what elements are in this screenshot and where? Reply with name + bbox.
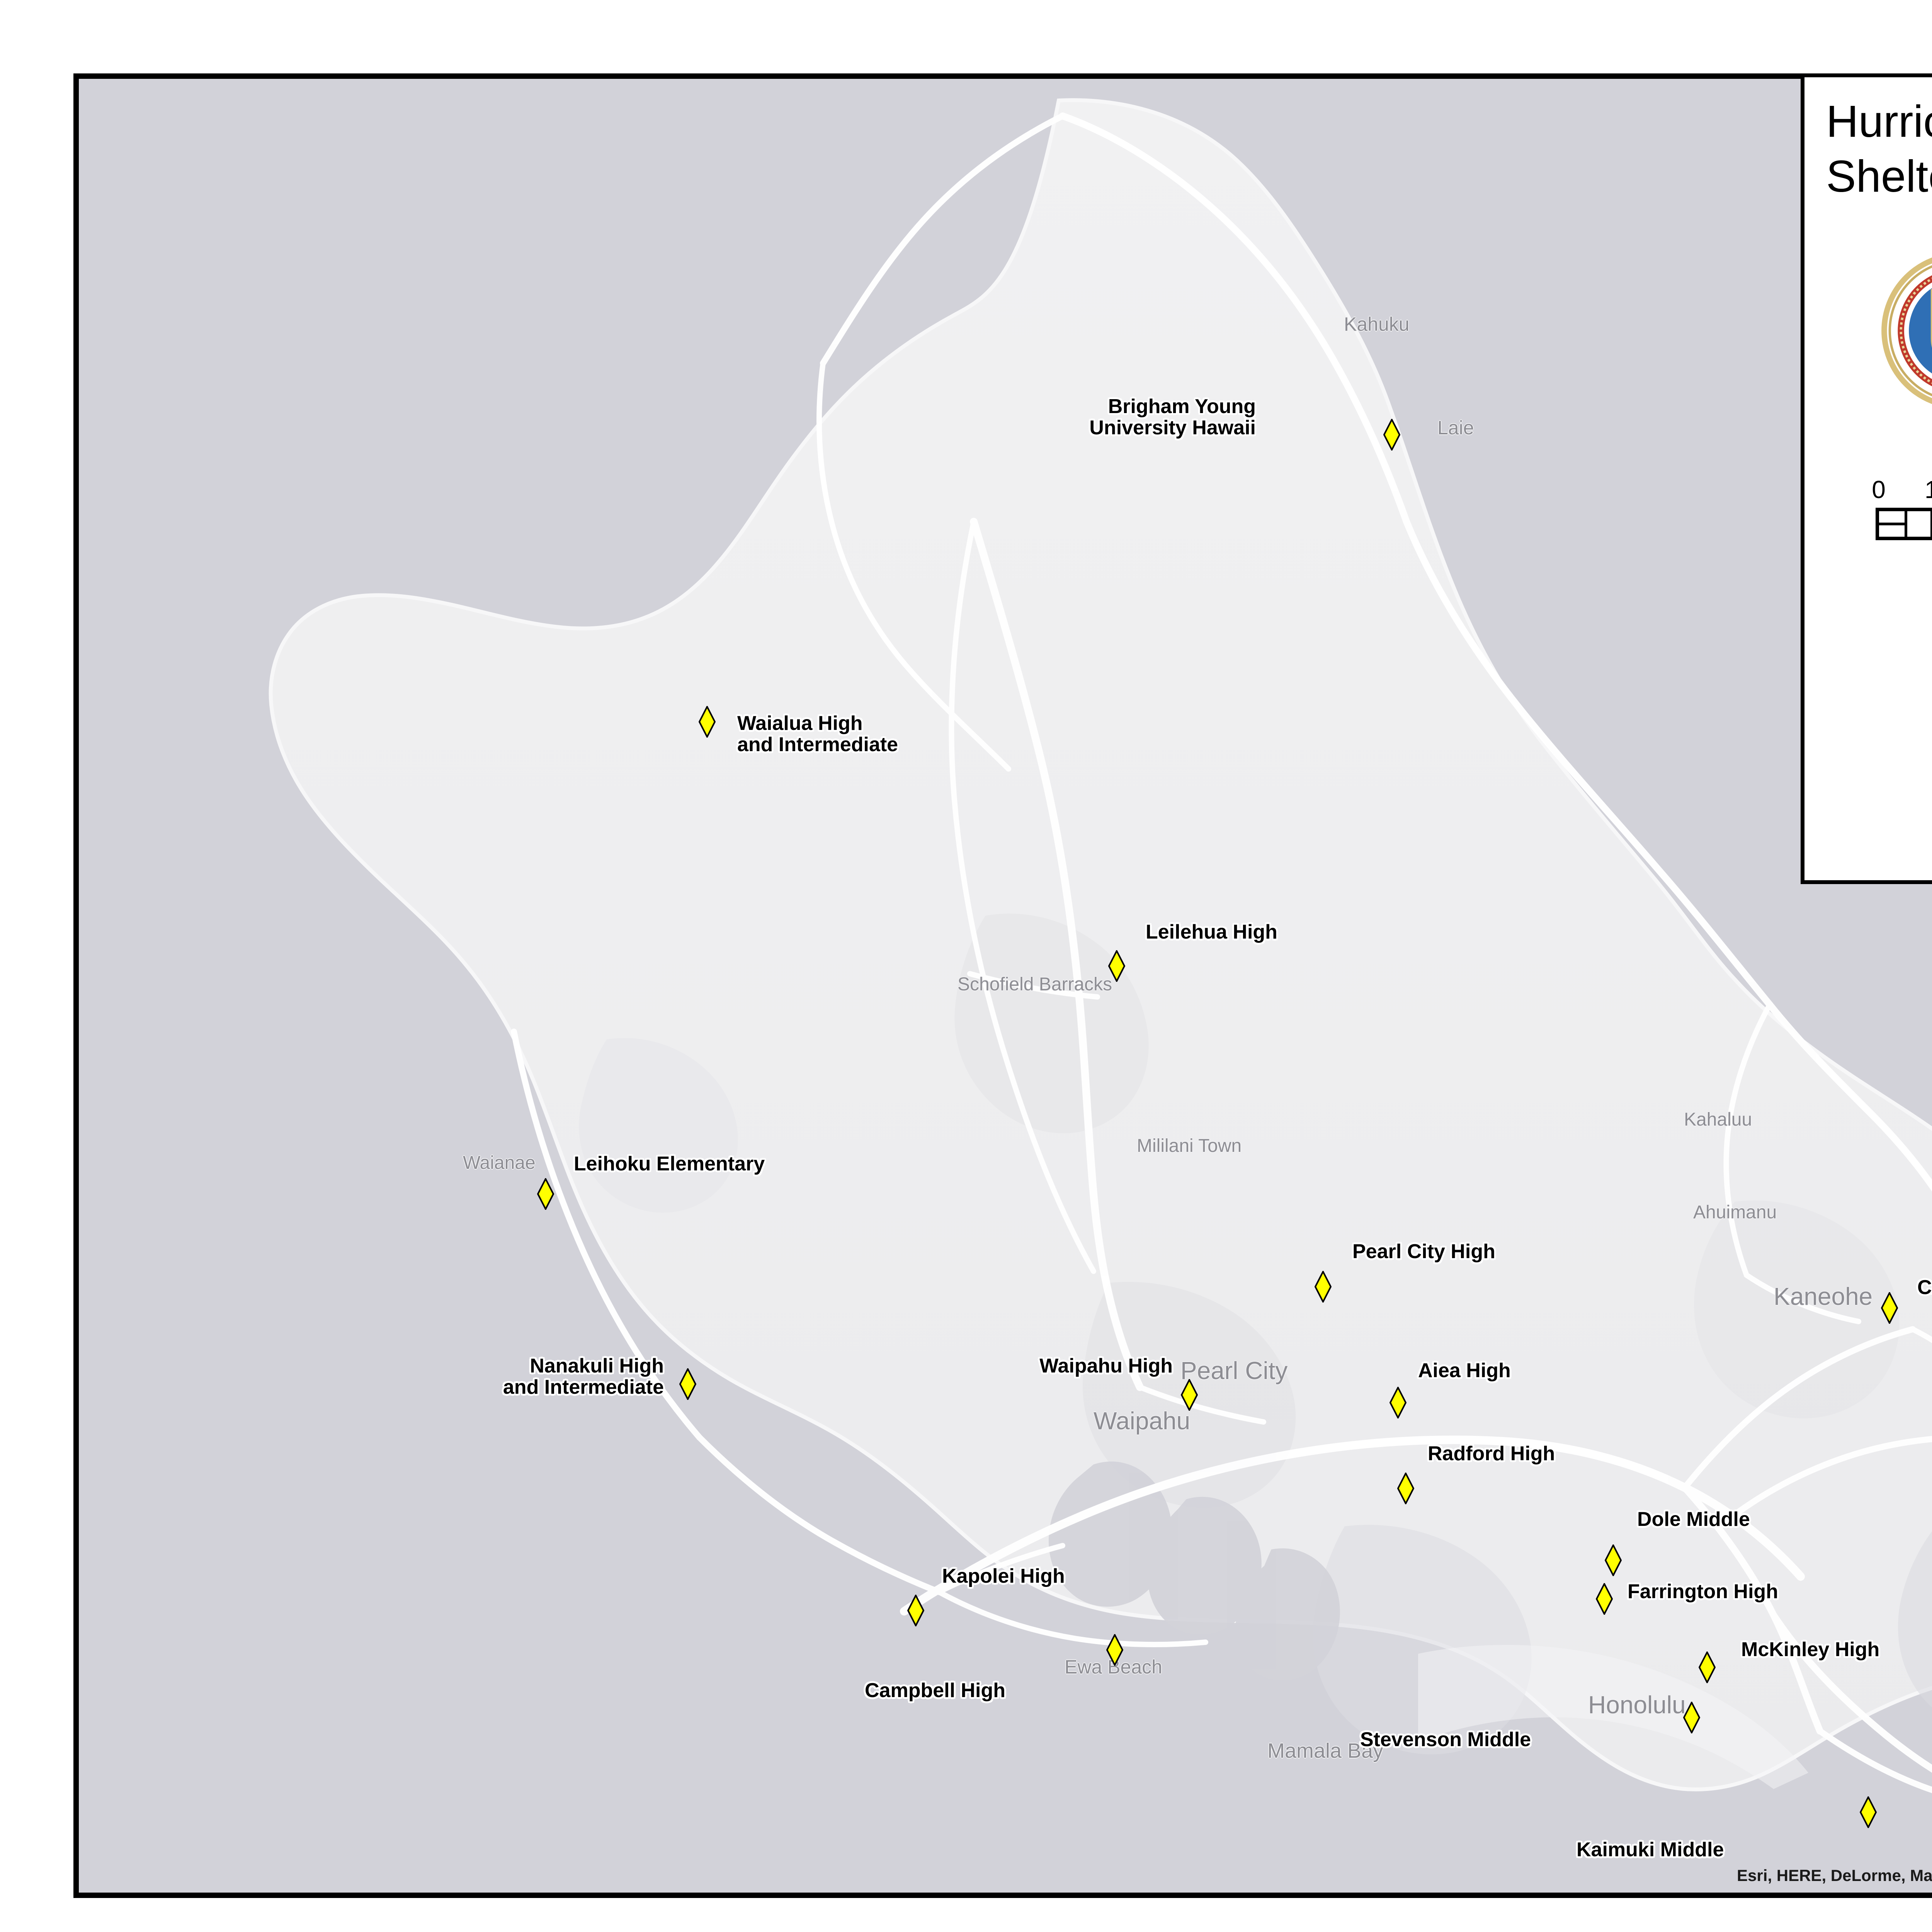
shelter-label: Farrington High	[1628, 1581, 1778, 1602]
shelter-label: Waialua High and Intermediate	[737, 713, 898, 755]
shelter-label: Aiea High	[1418, 1360, 1511, 1381]
scale-tick: 0	[1867, 475, 1890, 504]
place-label: Honolulu	[1588, 1690, 1686, 1719]
shelter-marker[interactable]	[1860, 1796, 1877, 1828]
map-title-line-2: Shelter Locations	[1826, 151, 1932, 201]
map-info-panel: Hurricane Lane Shelter Locations	[1801, 73, 1932, 884]
shelter-marker[interactable]	[537, 1178, 554, 1210]
shelter-label: Kaimuki Middle	[1577, 1839, 1724, 1861]
shelter-label: Leilehua High	[1146, 922, 1277, 943]
shelter-label: Waipahu High	[1039, 1355, 1173, 1377]
shelter-marker[interactable]	[1106, 1634, 1123, 1666]
shelter-marker[interactable]	[1397, 1473, 1414, 1504]
shelter-label: Pearl City High	[1352, 1241, 1495, 1262]
map-frame: Brigham Young University HawaiiWaialua H…	[73, 73, 1932, 1898]
place-label: Kahaluu	[1684, 1109, 1752, 1130]
scale-segment	[1879, 511, 1932, 537]
scale-bar-ticks: 0 1 2 3 4 5 6	[1867, 475, 1932, 504]
shelter-marker[interactable]	[1605, 1544, 1622, 1576]
place-label: Waipahu	[1094, 1406, 1190, 1435]
shelter-marker[interactable]	[1683, 1702, 1700, 1733]
place-label: Kaneohe	[1774, 1282, 1872, 1311]
shelter-marker[interactable]	[679, 1368, 696, 1400]
shelter-label: Castle High	[1917, 1277, 1932, 1298]
shelter-label: Campbell High	[865, 1680, 1005, 1701]
scale-bar: 0 1 2 3 4 5 6 Miles	[1876, 475, 1932, 573]
shelter-marker[interactable]	[1383, 419, 1400, 451]
shelter-label: Nanakuli High and Intermediate	[503, 1355, 664, 1398]
shelter-label: McKinley High	[1741, 1639, 1879, 1660]
shelter-marker[interactable]	[1181, 1379, 1198, 1411]
place-label: Waianae	[463, 1152, 536, 1173]
shelter-label: Brigham Young University Hawaii	[1089, 396, 1256, 439]
map-attribution: Esri, HERE, DeLorme, MapmyIndia, © OpenS…	[1737, 1866, 1932, 1885]
shelter-label: Stevenson Middle	[1360, 1729, 1531, 1750]
map-title-line-1: Hurricane Lane	[1826, 96, 1932, 146]
shelter-marker[interactable]	[1881, 1292, 1898, 1324]
scale-bar-graphic	[1876, 508, 1932, 540]
shelter-label: Kapolei High	[942, 1566, 1065, 1587]
shelter-marker[interactable]	[1389, 1387, 1406, 1418]
shelter-marker[interactable]	[907, 1595, 924, 1626]
shelter-label: Dole Middle	[1637, 1509, 1750, 1530]
city-and-county-of-honolulu-seal-icon	[1880, 251, 1932, 410]
place-label: Schofield Barracks	[957, 974, 1112, 995]
shelter-marker[interactable]	[1108, 950, 1125, 982]
map-canvas[interactable]: Brigham Young University HawaiiWaialua H…	[79, 79, 1932, 1893]
shelter-label: Radford High	[1428, 1443, 1555, 1464]
map-page: Brigham Young University HawaiiWaialua H…	[0, 0, 1932, 1932]
shelter-marker[interactable]	[1699, 1651, 1716, 1683]
place-label: Mililani Town	[1137, 1135, 1242, 1156]
scale-bar-units: Miles	[1876, 543, 1932, 573]
shelter-marker[interactable]	[1596, 1583, 1613, 1615]
place-label: Ahuimanu	[1693, 1202, 1777, 1223]
place-label: Laie	[1437, 417, 1474, 439]
shelter-marker[interactable]	[1315, 1271, 1332, 1303]
scale-tick: 1	[1920, 475, 1932, 504]
map-title: Hurricane Lane Shelter Locations	[1804, 94, 1932, 204]
shelter-label: Leihoku Elementary	[574, 1153, 765, 1175]
shelter-marker[interactable]	[699, 706, 716, 738]
place-label: Kahuku	[1344, 313, 1410, 335]
